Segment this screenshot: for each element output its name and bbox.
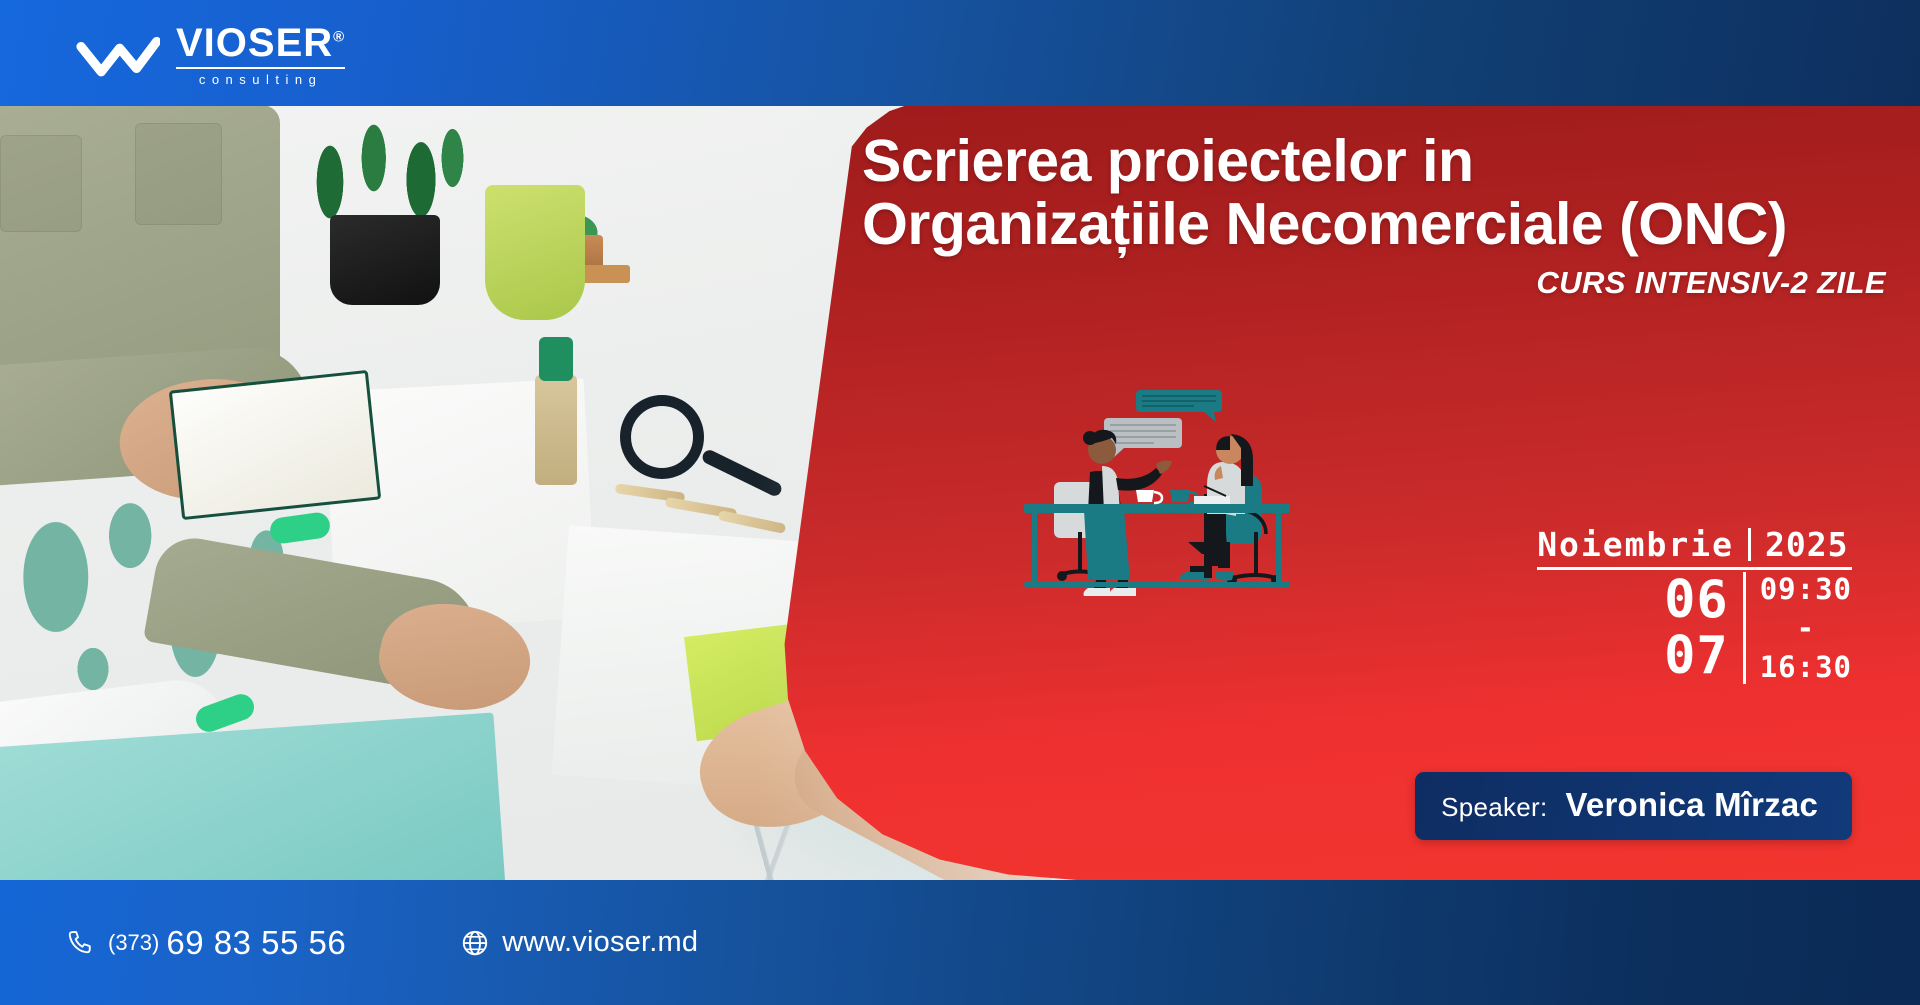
footer-phone-code: (373) [108, 930, 159, 956]
event-date-block: Noiembrie 2025 06 07 09:30 - 16:30 [1537, 528, 1852, 684]
event-time-separator: - [1797, 611, 1815, 645]
event-day-end: 07 [1664, 628, 1729, 684]
date-month-year-row: Noiembrie 2025 [1537, 528, 1852, 561]
logo-tagline: consulting [176, 72, 345, 87]
title-line-1: Scrierea proiectelor in [862, 128, 1474, 194]
event-time-end: 16:30 [1760, 650, 1852, 684]
logo-wordmark: VIOSER® consulting [176, 24, 345, 87]
footer-bar: (373) 69 83 55 56 www.vioser.md [0, 880, 1920, 1005]
header-bar: VIOSER® consulting [0, 0, 1920, 106]
event-day-start: 06 [1664, 572, 1729, 628]
event-year: 2025 [1748, 528, 1852, 561]
registered-mark: ® [333, 28, 345, 45]
speaker-label: Speaker: [1441, 792, 1547, 823]
headline-block: Scrierea proiectelor in Organizațiile Ne… [862, 130, 1920, 301]
event-time-start: 09:30 [1760, 572, 1852, 606]
event-month: Noiembrie [1537, 528, 1748, 561]
footer-phone-number: 69 83 55 56 [166, 924, 346, 962]
logo-divider [176, 67, 345, 69]
title-line-2: Organizațiile Necomerciale (ONC) [862, 191, 1787, 257]
meeting-illustration [1018, 382, 1318, 602]
vioser-wave-mark [76, 28, 160, 82]
event-times: 09:30 - 16:30 [1743, 572, 1852, 684]
footer-website[interactable]: www.vioser.md [460, 926, 698, 959]
title-subtitle: CURS INTENSIV-2 ZILE [862, 265, 1920, 301]
globe-icon [460, 928, 490, 958]
footer-phone[interactable]: (373) 69 83 55 56 [66, 924, 346, 962]
page-title: Scrierea proiectelor in Organizațiile Ne… [862, 130, 1920, 255]
event-days: 06 07 [1664, 572, 1743, 684]
speaker-badge: Speaker: Veronica Mîrzac [1415, 772, 1852, 840]
date-days-times-row: 06 07 09:30 - 16:30 [1537, 572, 1852, 684]
logo-name: VIOSER® [176, 24, 345, 62]
speaker-name: Veronica Mîrzac [1566, 786, 1818, 824]
speech-bubble-teal [1136, 390, 1222, 422]
vioser-logo[interactable]: VIOSER® consulting [76, 24, 345, 86]
footer-website-url: www.vioser.md [502, 926, 698, 959]
phone-icon [66, 928, 96, 958]
promo-banner: VIOSER® consulting Scrierea proiectelor … [0, 0, 1920, 1005]
